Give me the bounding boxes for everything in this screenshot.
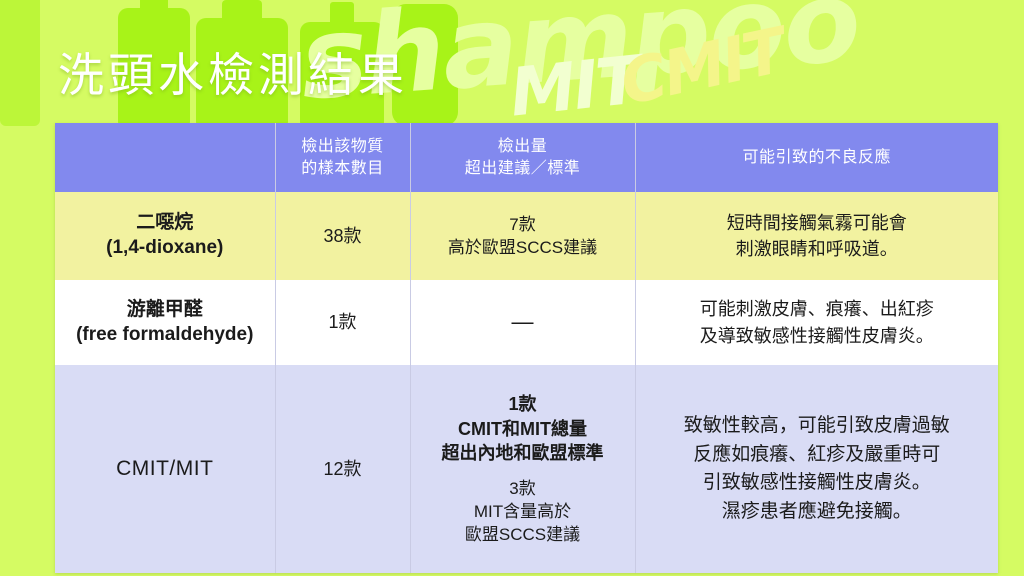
substance-name-en: (free formaldehyde): [76, 324, 253, 345]
cell-substance-cmit-mit: CMIT/MIT: [55, 365, 275, 573]
exceed-bold-line1: 1款: [411, 392, 635, 416]
exceed-line1: 7款: [509, 215, 535, 234]
substance-name-en: (1,4-dioxane): [106, 237, 223, 258]
page-title: 洗頭水檢測結果: [58, 52, 408, 98]
column-header-exceed: 檢出量 超出建議／標準: [410, 123, 635, 192]
exceed-stack: 1款 CMIT和MIT總量 超出內地和歐盟標準 3款 MIT含量高於 歐盟SCC…: [411, 392, 635, 546]
effect-line2: 反應如痕癢、紅疹及嚴重時可: [693, 444, 940, 465]
table-body: 二噁烷 (1,4-dioxane) 38款 7款 高於歐盟SCCS建議 短時間接…: [55, 192, 998, 573]
cell-effect-cmit-mit: 致敏性較高，可能引致皮膚過敏 反應如痕癢、紅疹及嚴重時可 引致敏感性接觸性皮膚炎…: [635, 365, 998, 573]
cell-sample-count-formaldehyde: 1款: [275, 280, 410, 365]
column-header-adverse-effects: 可能引致的不良反應: [635, 123, 998, 192]
test-results-table: 檢出該物質 的樣本數目 檢出量 超出建議／標準 可能引致的不良反應 二噁烷 (1…: [55, 123, 998, 573]
table-row-cmit-mit: CMIT/MIT 12款 1款 CMIT和MIT總量 超出內地和歐盟標準 3款 …: [55, 365, 998, 573]
exceed-spacer: [411, 466, 635, 477]
table-header: 檢出該物質 的樣本數目 檢出量 超出建議／標準 可能引致的不良反應: [55, 123, 998, 192]
exceed-line1: 3款: [411, 477, 635, 500]
effect-line3: 引致敏感性接觸性皮膚炎。: [703, 472, 931, 493]
substance-name-cn: 游離甲醛: [127, 299, 203, 320]
effect-line1: 致敏性較高，可能引致皮膚過敏: [684, 415, 950, 436]
cell-effect-dioxane: 短時間接觸氣霧可能會 刺激眼睛和呼吸道。: [635, 192, 998, 280]
effect-line4: 濕疹患者應避免接觸。: [722, 501, 912, 522]
column-header-substance: [55, 123, 275, 192]
cell-sample-count-dioxane: 38款: [275, 192, 410, 280]
cell-sample-count-cmit-mit: 12款: [275, 365, 410, 573]
table-row-dioxane: 二噁烷 (1,4-dioxane) 38款 7款 高於歐盟SCCS建議 短時間接…: [55, 192, 998, 280]
column-header-sample-count-line2: 的樣本數目: [301, 160, 384, 177]
exceed-bold-line3: 超出內地和歐盟標準: [411, 441, 635, 465]
effect-line2: 及導致敏感性接觸性皮膚炎。: [700, 326, 934, 346]
exceed-bold-line2: CMIT和MIT總量: [411, 417, 635, 441]
exceed-line3: 歐盟SCCS建議: [411, 523, 635, 546]
exceed-line2: MIT含量高於: [411, 500, 635, 523]
exceed-line2: 高於歐盟SCCS建議: [448, 238, 597, 257]
cell-exceed-cmit-mit: 1款 CMIT和MIT總量 超出內地和歐盟標準 3款 MIT含量高於 歐盟SCC…: [410, 365, 635, 573]
cell-substance-dioxane: 二噁烷 (1,4-dioxane): [55, 192, 275, 280]
cell-substance-formaldehyde: 游離甲醛 (free formaldehyde): [55, 280, 275, 365]
column-header-sample-count: 檢出該物質 的樣本數目: [275, 123, 410, 192]
effect-line1: 可能刺激皮膚、痕癢、出紅疹: [700, 299, 934, 319]
column-header-exceed-line1: 檢出量: [498, 138, 548, 155]
cell-effect-formaldehyde: 可能刺激皮膚、痕癢、出紅疹 及導致敏感性接觸性皮膚炎。: [635, 280, 998, 365]
column-header-exceed-line2: 超出建議／標準: [465, 160, 581, 177]
bottle-cap-shape: [222, 0, 262, 24]
substance-name-cn: 二噁烷: [136, 212, 193, 233]
effect-line2: 刺激眼睛和呼吸道。: [736, 239, 898, 259]
table-header-row: 檢出該物質 的樣本數目 檢出量 超出建議／標準 可能引致的不良反應: [55, 123, 998, 192]
bottle-silhouette: [0, 0, 40, 126]
effect-line1: 短時間接觸氣霧可能會: [727, 213, 907, 233]
column-header-sample-count-line1: 檢出該物質: [301, 138, 384, 155]
cell-exceed-formaldehyde: —: [410, 280, 635, 365]
cell-exceed-dioxane: 7款 高於歐盟SCCS建議: [410, 192, 635, 280]
table-row-formaldehyde: 游離甲醛 (free formaldehyde) 1款 — 可能刺激皮膚、痕癢、…: [55, 280, 998, 365]
bottle-neck-shape: [140, 0, 168, 14]
